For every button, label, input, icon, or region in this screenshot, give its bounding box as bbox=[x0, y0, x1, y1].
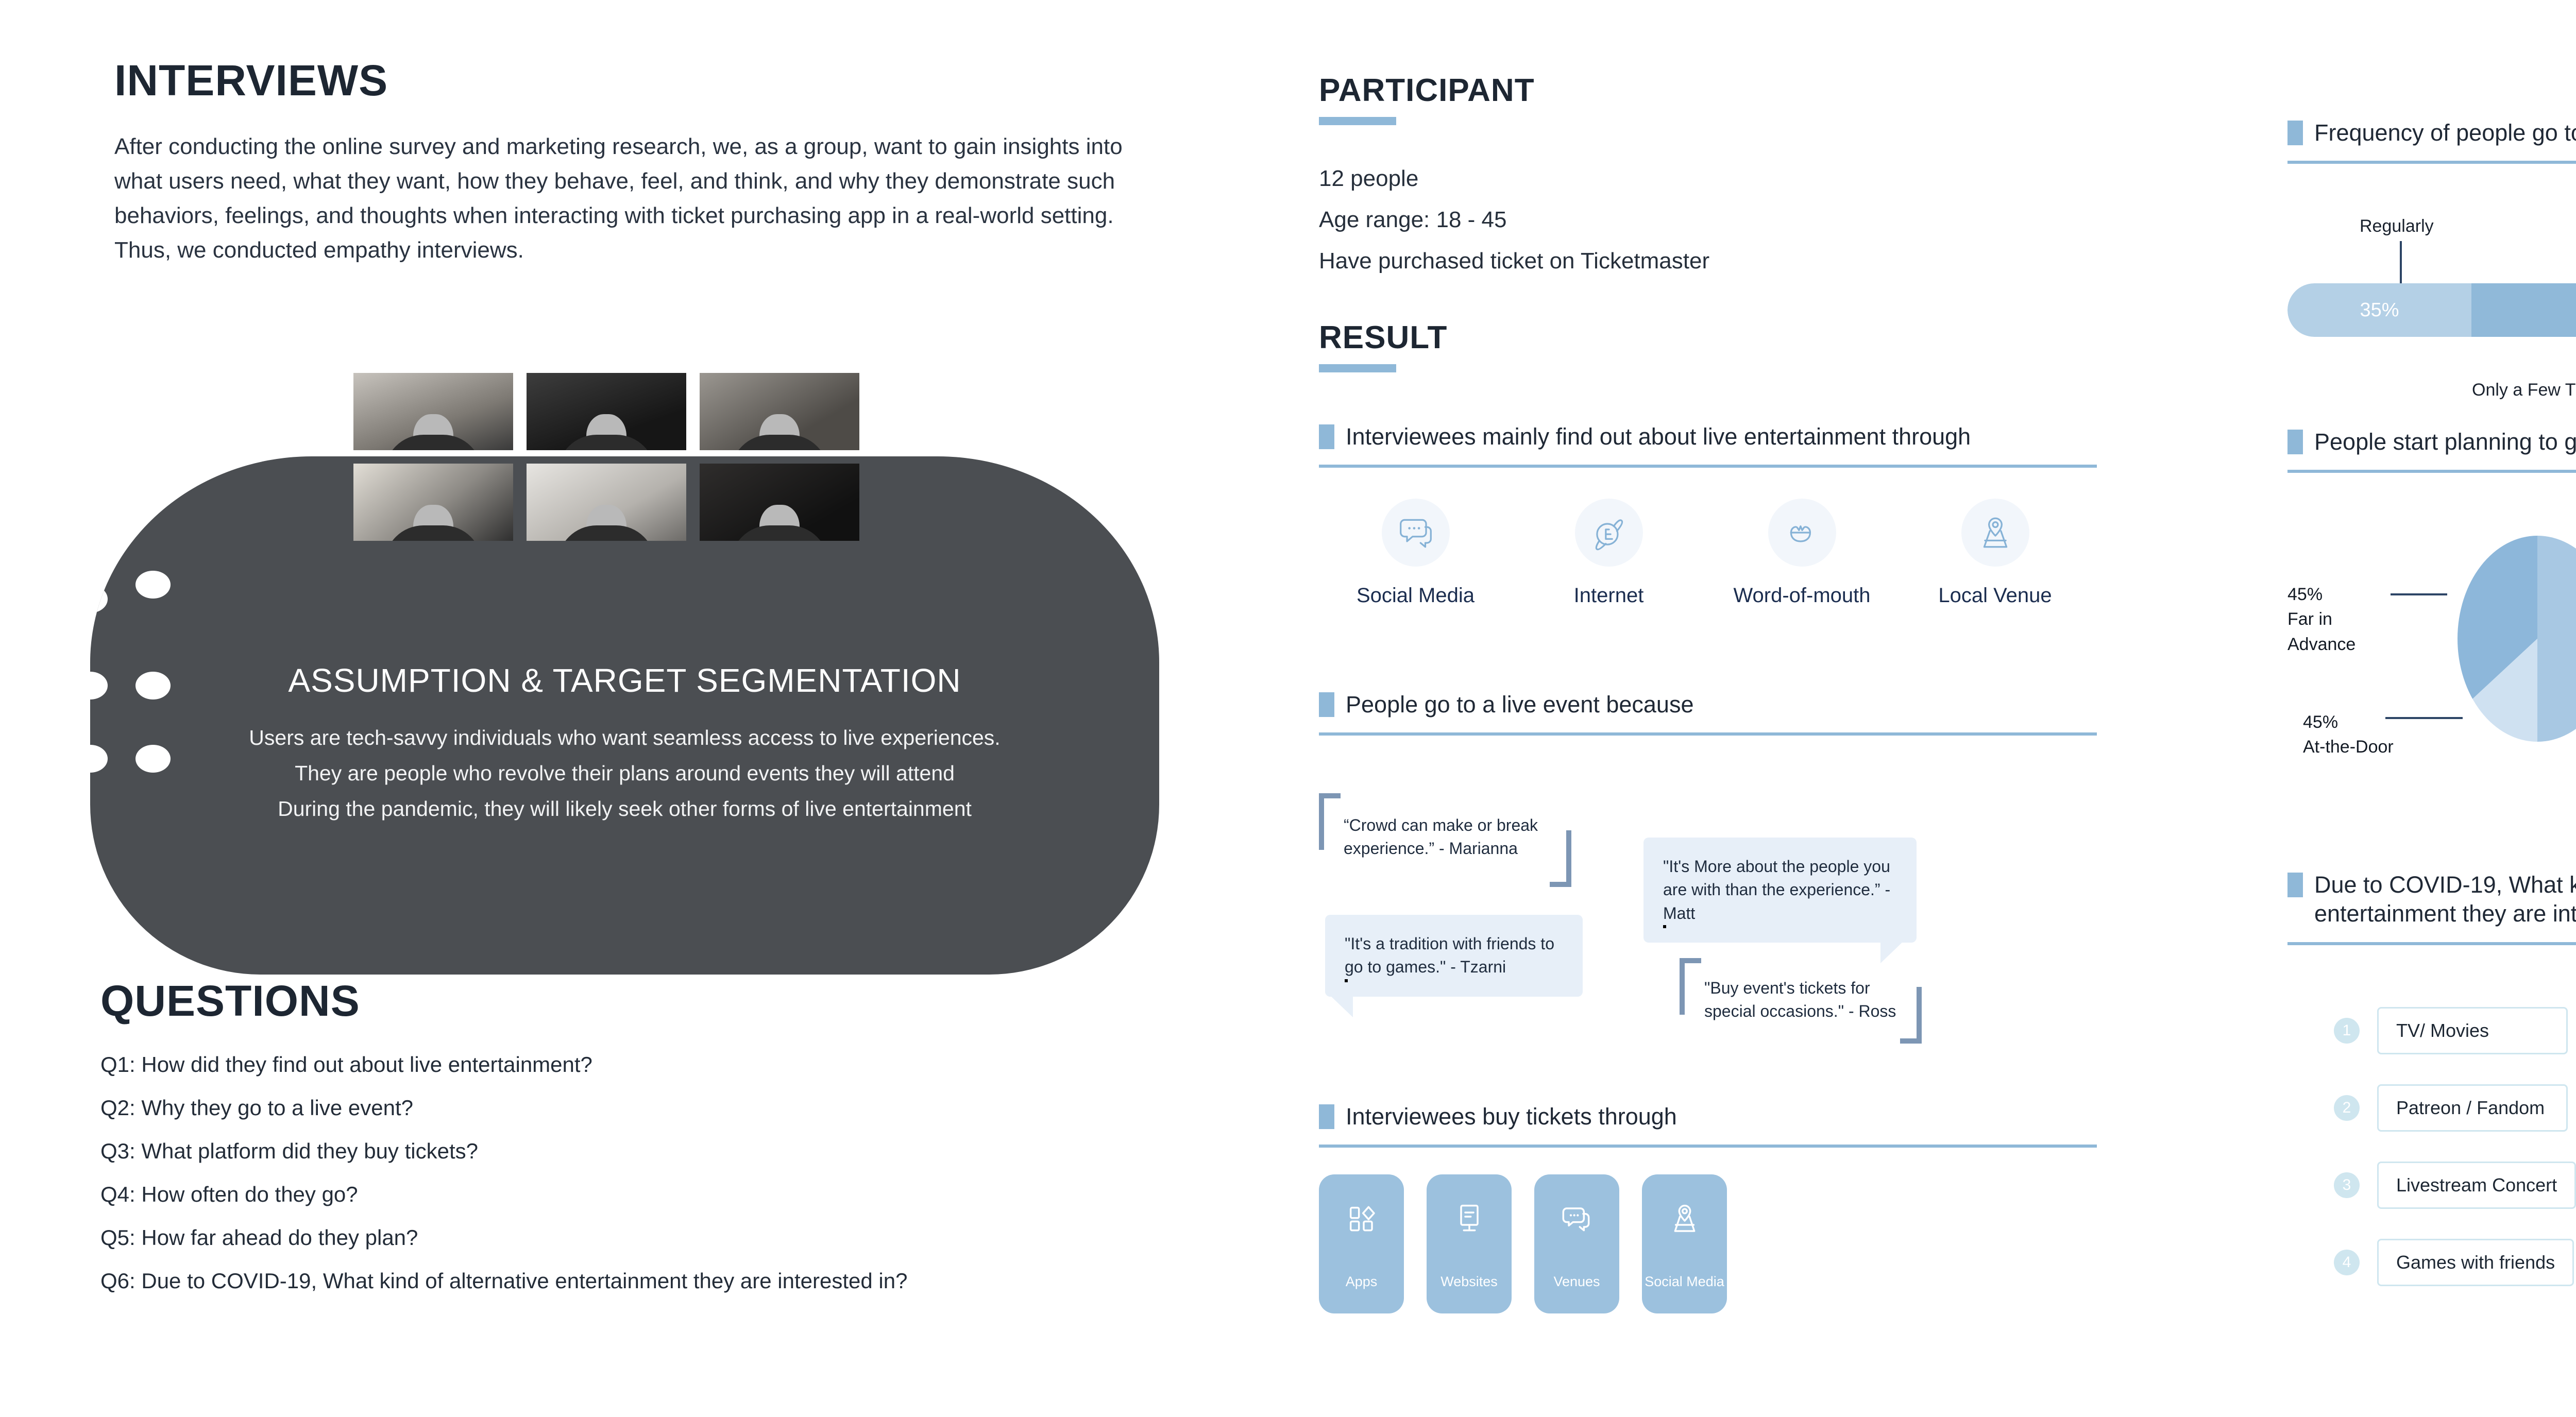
monitor-icon bbox=[1453, 1202, 1486, 1235]
blue-chip-marker bbox=[2287, 873, 2303, 897]
quote-text: "It's More about the people you are with… bbox=[1663, 855, 1897, 925]
subhead-label: Frequency of people go to an event bbox=[2314, 118, 2576, 147]
bar-segment-few-times: 65% bbox=[2471, 283, 2576, 337]
bracket-open-icon bbox=[1680, 958, 1701, 1015]
interview-photo-4 bbox=[353, 464, 513, 541]
subhead-rule bbox=[2287, 942, 2576, 945]
question-item: Q6: Due to COVID-19, What kind of altern… bbox=[100, 1269, 1224, 1293]
leader-line bbox=[2391, 593, 2447, 595]
discovery-channel-row: Social Media Internet bbox=[1319, 499, 2092, 607]
question-item: Q4: How often do they go? bbox=[100, 1182, 1224, 1207]
list-item-label: TV/ Movies bbox=[2377, 1007, 2568, 1054]
bar-segment-regularly: 35% bbox=[2287, 283, 2471, 337]
interviews-paragraph: After conducting the online survey and m… bbox=[114, 130, 1140, 268]
covid-alternatives-list: 1 TV/ Movies 2 Patreon / Fandom 3 Livest… bbox=[2334, 1007, 2576, 1316]
quote-tzarni: "It's a tradition with friends to go to … bbox=[1325, 915, 1583, 997]
quote-cluster: “Crowd can make or break experience.” - … bbox=[1319, 793, 2138, 1025]
interview-photo-5 bbox=[527, 464, 686, 541]
questions-list: Q1: How did they find out about live ent… bbox=[100, 1052, 1224, 1312]
result-section: RESULT bbox=[1319, 319, 1447, 372]
question-item: Q2: Why they go to a live event? bbox=[100, 1096, 1224, 1120]
subhead-rule bbox=[2287, 161, 2576, 164]
blob-line: During the pandemic, they will likely se… bbox=[90, 791, 1159, 827]
quote-matt: "It's More about the people you are with… bbox=[1643, 838, 1917, 943]
planning-pie-chart: 45%Far inAdvance 45%Somewhatin Advance 4… bbox=[2287, 505, 2576, 773]
buy-card-social-media[interactable]: Social Media bbox=[1642, 1174, 1727, 1313]
bracket-close-icon bbox=[1550, 830, 1571, 887]
buy-card-label: Websites bbox=[1427, 1274, 1512, 1290]
participant-title: PARTICIPANT bbox=[1319, 72, 1535, 109]
bracket-open-icon bbox=[1319, 793, 1341, 850]
participant-line: Age range: 18 - 45 bbox=[1319, 207, 1709, 233]
column-interviews: INTERVIEWS After conducting the online s… bbox=[0, 0, 1288, 1417]
result-underline bbox=[1319, 364, 1396, 372]
blue-chip-marker bbox=[1319, 1104, 1334, 1129]
leader-line bbox=[2385, 717, 2463, 719]
subhead-covid-alternatives: Due to COVID-19, What kind of alternativ… bbox=[2287, 870, 2576, 945]
blob-title: ASSUMPTION & TARGET SEGMENTATION bbox=[90, 661, 1159, 699]
list-number-badge: 2 bbox=[2334, 1095, 2360, 1121]
quote-ross: "Buy event's tickets for special occasio… bbox=[1680, 958, 1927, 1023]
quote-text: "Buy event's tickets for special occasio… bbox=[1680, 958, 1927, 1023]
blue-chip-marker bbox=[2287, 121, 2303, 145]
globe-orbit-icon bbox=[1575, 499, 1643, 567]
participant-line: 12 people bbox=[1319, 166, 1709, 192]
subhead-rule bbox=[1319, 1145, 2097, 1148]
interview-photo-6 bbox=[700, 464, 859, 541]
channel-label: Local Venue bbox=[1899, 584, 2092, 607]
participant-lines: 12 people Age range: 18 - 45 Have purcha… bbox=[1319, 166, 1709, 289]
quote-marianna: “Crowd can make or break experience.” - … bbox=[1319, 793, 1577, 861]
quote-bubble: "It's More about the people you are with… bbox=[1643, 838, 1917, 943]
buy-card-label: Venues bbox=[1534, 1274, 1619, 1290]
blue-chip-marker bbox=[1319, 692, 1334, 717]
speech-bubbles-icon bbox=[1561, 1202, 1594, 1235]
list-item-label: Games with friends bbox=[2377, 1239, 2574, 1286]
quote-bubble: "It's a tradition with friends to go to … bbox=[1325, 915, 1583, 997]
pie-graphic bbox=[2458, 536, 2576, 742]
blob-line: Users are tech-savvy individuals who wan… bbox=[90, 720, 1159, 756]
subhead-rule bbox=[1319, 732, 2097, 736]
subhead-label: People start planning to go to events bbox=[2314, 428, 2576, 456]
bubble-tail bbox=[1329, 995, 1353, 1017]
interview-photo-1 bbox=[353, 373, 513, 450]
list-item[interactable]: 1 TV/ Movies bbox=[2334, 1007, 2576, 1054]
list-item[interactable]: 2 Patreon / Fandom bbox=[2334, 1084, 2576, 1132]
list-item-label: Livestream Concert bbox=[2377, 1162, 2576, 1209]
bracket-close-icon bbox=[1900, 987, 1922, 1044]
channel-word-of-mouth[interactable]: Word-of-mouth bbox=[1705, 499, 1899, 607]
interview-photo-3 bbox=[700, 373, 859, 450]
list-number-badge: 1 bbox=[2334, 1018, 2360, 1044]
subhead-go-because: People go to a live event because bbox=[1319, 690, 2097, 736]
speech-bubbles-icon bbox=[1382, 499, 1450, 567]
quote-text: "It's a tradition with friends to go to … bbox=[1345, 932, 1563, 979]
channel-label: Social Media bbox=[1319, 584, 1512, 607]
blob-dot bbox=[90, 585, 108, 613]
question-item: Q5: How far ahead do they plan? bbox=[100, 1225, 1224, 1250]
interview-photo-grid bbox=[353, 373, 859, 541]
subhead-label: People go to a live event because bbox=[1346, 690, 1693, 719]
channel-label: Internet bbox=[1512, 584, 1705, 607]
blob-line: They are people who revolve their plans … bbox=[90, 756, 1159, 791]
location-pin-map-icon bbox=[1668, 1202, 1701, 1235]
blob-lines: Users are tech-savvy individuals who wan… bbox=[90, 720, 1159, 827]
page-title-interviews: INTERVIEWS bbox=[114, 56, 388, 106]
subhead-label: Due to COVID-19, What kind of alternativ… bbox=[2314, 870, 2576, 929]
list-number-badge: 3 bbox=[2334, 1172, 2360, 1198]
column-charts: Frequency of people go to an event Regul… bbox=[2267, 0, 2576, 1417]
result-title: RESULT bbox=[1319, 319, 1447, 356]
quote-text: “Crowd can make or break experience.” - … bbox=[1319, 793, 1577, 861]
location-pin-map-icon bbox=[1961, 499, 2029, 567]
subhead-label: Interviewees mainly find out about live … bbox=[1346, 422, 1971, 451]
question-item: Q1: How did they find out about live ent… bbox=[100, 1052, 1224, 1077]
channel-local-venue[interactable]: Local Venue bbox=[1899, 499, 2092, 607]
participant-section: PARTICIPANT bbox=[1319, 72, 1535, 125]
subhead-buy-through: Interviewees buy tickets through bbox=[1319, 1102, 2097, 1148]
interview-photo-2 bbox=[527, 373, 686, 450]
buy-card-label: Apps bbox=[1319, 1274, 1404, 1290]
subhead-planning: People start planning to go to events bbox=[2287, 428, 2576, 473]
participant-underline bbox=[1319, 117, 1396, 125]
blue-chip-marker bbox=[2287, 430, 2303, 454]
question-item: Q3: What platform did they buy tickets? bbox=[100, 1139, 1224, 1164]
column-result: PARTICIPANT 12 people Age range: 18 - 45… bbox=[1288, 0, 2267, 1417]
stacked-bar: 35% 65% bbox=[2287, 283, 2576, 337]
subhead-label: Interviewees buy tickets through bbox=[1346, 1102, 1677, 1131]
list-item-label: Patreon / Fandom bbox=[2377, 1084, 2568, 1132]
bar-label-few-times: Only a Few Times Per Year bbox=[2472, 380, 2576, 400]
list-item[interactable]: 4 Games with friends bbox=[2334, 1239, 2576, 1286]
app-grid-icon bbox=[1345, 1202, 1378, 1235]
channel-label: Word-of-mouth bbox=[1705, 584, 1899, 607]
list-number-badge: 4 bbox=[2334, 1250, 2360, 1275]
buy-card-venues[interactable]: Venues bbox=[1534, 1174, 1619, 1313]
channel-social-media[interactable]: Social Media bbox=[1319, 499, 1512, 607]
subhead-find-out: Interviewees mainly find out about live … bbox=[1319, 422, 2097, 468]
channel-internet[interactable]: Internet bbox=[1512, 499, 1705, 607]
leader-line bbox=[2400, 241, 2402, 283]
bar-label-regularly: Regularly bbox=[2360, 216, 2434, 236]
questions-title: QUESTIONS bbox=[100, 976, 360, 1026]
participant-line: Have purchased ticket on Ticketmaster bbox=[1319, 248, 1709, 274]
infographic-page: INTERVIEWS After conducting the online s… bbox=[0, 0, 2576, 1417]
mouth-icon bbox=[1768, 499, 1836, 567]
buy-card-websites[interactable]: Websites bbox=[1427, 1174, 1512, 1313]
subhead-rule bbox=[1319, 465, 2097, 468]
ticket-channel-cards: Apps Websites bbox=[1319, 1174, 1727, 1313]
buy-card-label: Social Media bbox=[1642, 1274, 1727, 1290]
subhead-rule bbox=[2287, 470, 2576, 473]
blue-chip-marker bbox=[1319, 424, 1334, 449]
blob-dot bbox=[135, 571, 171, 599]
buy-card-apps[interactable]: Apps bbox=[1319, 1174, 1404, 1313]
subhead-frequency: Frequency of people go to an event bbox=[2287, 118, 2576, 164]
list-item[interactable]: 3 Livestream Concert bbox=[2334, 1162, 2576, 1209]
